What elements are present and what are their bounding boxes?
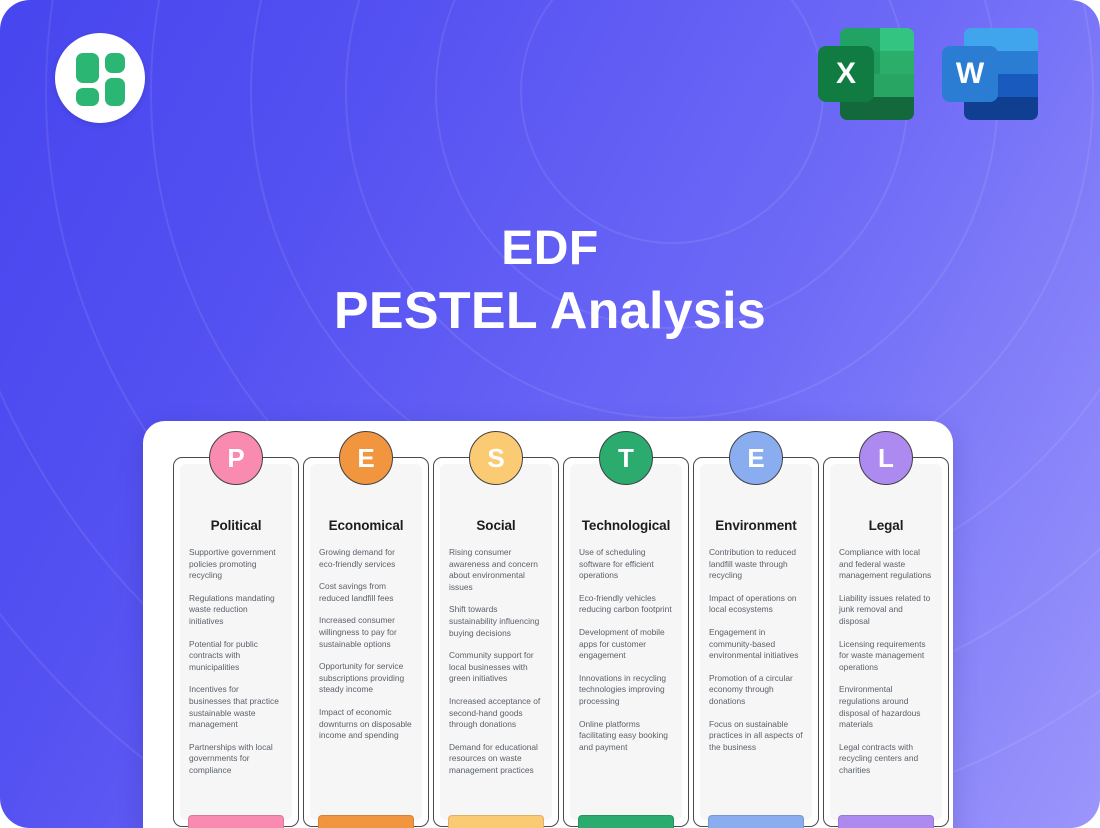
column-heading: Political xyxy=(189,518,283,533)
logo-tile xyxy=(105,78,125,106)
column-heading: Economical xyxy=(319,518,413,533)
page-title: EDF PESTEL Analysis xyxy=(0,222,1100,340)
list-item: Environmental regulations around disposa… xyxy=(839,684,933,730)
list-item: Potential for public contracts with muni… xyxy=(189,639,283,674)
column-badge-t-3: T xyxy=(599,431,653,485)
logo-tile xyxy=(105,53,125,73)
column-inner-panel: EconomicalGrowing demand for eco-friendl… xyxy=(310,464,422,820)
column-color-bar xyxy=(838,815,934,828)
column-inner-panel: TechnologicalUse of scheduling software … xyxy=(570,464,682,820)
pestel-column-economical[interactable]: EconomicalGrowing demand for eco-friendl… xyxy=(303,457,429,827)
column-card: EconomicalGrowing demand for eco-friendl… xyxy=(303,457,429,827)
column-heading: Environment xyxy=(709,518,803,533)
column-badge-s-2: S xyxy=(469,431,523,485)
column-inner-panel: EnvironmentContribution to reduced landf… xyxy=(700,464,812,820)
list-item: Compliance with local and federal waste … xyxy=(839,547,933,582)
list-item: Promotion of a circular economy through … xyxy=(709,673,803,708)
grid-logo-icon xyxy=(55,33,145,123)
title-line-2: PESTEL Analysis xyxy=(0,282,1100,340)
list-item: Growing demand for eco-friendly services xyxy=(319,547,413,570)
list-item: Rising consumer awareness and concern ab… xyxy=(449,547,543,593)
pestel-board: PoliticalSupportive government policies … xyxy=(143,421,953,828)
list-item: Increased consumer willingness to pay fo… xyxy=(319,615,413,650)
excel-icon[interactable]: X xyxy=(818,28,914,120)
pestel-column-environment[interactable]: EnvironmentContribution to reduced landf… xyxy=(693,457,819,827)
slide-stage: X W EDF PESTEL Analysis PoliticalSupport… xyxy=(0,0,1100,828)
list-item: Demand for educational resources on wast… xyxy=(449,742,543,777)
list-item: Legal contracts with recycling centers a… xyxy=(839,742,933,777)
list-item: Incentives for businesses that practice … xyxy=(189,684,283,730)
word-icon[interactable]: W xyxy=(942,28,1038,120)
list-item: Shift towards sustainability influencing… xyxy=(449,604,543,639)
list-item: Supportive government policies promoting… xyxy=(189,547,283,582)
column-inner-panel: PoliticalSupportive government policies … xyxy=(180,464,292,820)
list-item: Liability issues related to junk removal… xyxy=(839,593,933,628)
list-item: Innovations in recycling technologies im… xyxy=(579,673,673,708)
list-item: Focus on sustainable practices in all as… xyxy=(709,719,803,754)
column-card: SocialRising consumer awareness and conc… xyxy=(433,457,559,827)
column-item-list: Growing demand for eco-friendly services… xyxy=(319,547,413,742)
list-item: Impact of economic downturns on disposab… xyxy=(319,707,413,742)
column-badge-l-5: L xyxy=(859,431,913,485)
pestel-columns: PoliticalSupportive government policies … xyxy=(173,457,949,827)
column-color-bar xyxy=(188,815,284,828)
list-item: Cost savings from reduced landfill fees xyxy=(319,581,413,604)
list-item: Licensing requirements for waste managem… xyxy=(839,639,933,674)
list-item: Regulations mandating waste reduction in… xyxy=(189,593,283,628)
column-item-list: Compliance with local and federal waste … xyxy=(839,547,933,777)
column-item-list: Use of scheduling software for efficient… xyxy=(579,547,673,753)
column-color-bar xyxy=(708,815,804,828)
list-item: Online platforms facilitating easy booki… xyxy=(579,719,673,754)
column-heading: Technological xyxy=(579,518,673,533)
column-card: EnvironmentContribution to reduced landf… xyxy=(693,457,819,827)
list-item: Development of mobile apps for customer … xyxy=(579,627,673,662)
list-item: Contribution to reduced landfill waste t… xyxy=(709,547,803,582)
column-badge-e-4: E xyxy=(729,431,783,485)
logo-tile xyxy=(76,88,99,106)
list-item: Opportunity for service subscriptions pr… xyxy=(319,661,413,696)
column-heading: Legal xyxy=(839,518,933,533)
word-letter: W xyxy=(942,46,998,102)
pestel-column-social[interactable]: SocialRising consumer awareness and conc… xyxy=(433,457,559,827)
column-card: LegalCompliance with local and federal w… xyxy=(823,457,949,827)
list-item: Eco-friendly vehicles reducing carbon fo… xyxy=(579,593,673,616)
column-card: TechnologicalUse of scheduling software … xyxy=(563,457,689,827)
list-item: Community support for local businesses w… xyxy=(449,650,543,685)
column-card: PoliticalSupportive government policies … xyxy=(173,457,299,827)
column-badge-e-1: E xyxy=(339,431,393,485)
excel-letter: X xyxy=(818,46,874,102)
pestel-column-political[interactable]: PoliticalSupportive government policies … xyxy=(173,457,299,827)
title-line-1: EDF xyxy=(0,222,1100,276)
column-color-bar xyxy=(578,815,674,828)
pestel-column-legal[interactable]: LegalCompliance with local and federal w… xyxy=(823,457,949,827)
column-heading: Social xyxy=(449,518,543,533)
list-item: Partnerships with local governments for … xyxy=(189,742,283,777)
column-item-list: Contribution to reduced landfill waste t… xyxy=(709,547,803,753)
column-item-list: Rising consumer awareness and concern ab… xyxy=(449,547,543,777)
column-item-list: Supportive government policies promoting… xyxy=(189,547,283,777)
column-badge-p-0: P xyxy=(209,431,263,485)
list-item: Impact of operations on local ecosystems xyxy=(709,593,803,616)
column-inner-panel: SocialRising consumer awareness and conc… xyxy=(440,464,552,820)
logo-tile xyxy=(76,53,99,83)
list-item: Increased acceptance of second-hand good… xyxy=(449,696,543,731)
pestel-column-technological[interactable]: TechnologicalUse of scheduling software … xyxy=(563,457,689,827)
column-inner-panel: LegalCompliance with local and federal w… xyxy=(830,464,942,820)
list-item: Use of scheduling software for efficient… xyxy=(579,547,673,582)
column-color-bar xyxy=(318,815,414,828)
list-item: Engagement in community-based environmen… xyxy=(709,627,803,662)
column-color-bar xyxy=(448,815,544,828)
